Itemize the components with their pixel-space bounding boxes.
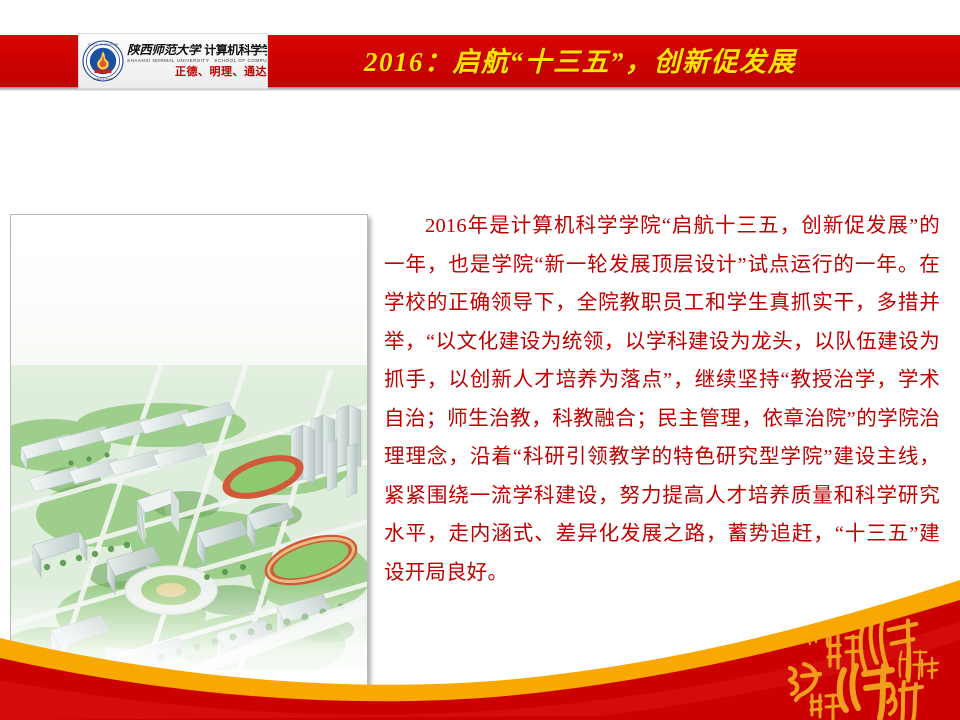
- institution-logo-plate: SCHOOL OF COMPUTER SCIENCE SNNU 陕西师范大学 计…: [78, 33, 268, 89]
- presentation-slide: SCHOOL OF COMPUTER SCIENCE SNNU 陕西师范大学 计…: [0, 0, 960, 720]
- university-motto: 正德、明理、通达: [127, 67, 267, 78]
- slide-title: 2016：启航“十三五”，创新促发展: [300, 40, 860, 84]
- slide-body-paragraph: 2016年是计算机科学学院“启航十三五，创新促发展”的一年，也是学院“新一轮发展…: [384, 207, 940, 592]
- university-name-en: SHAANXI NORMAL UNIVERSITY: [127, 59, 209, 64]
- campus-aerial-rendering: 笔落惊: [11, 215, 367, 705]
- university-seal-icon: SCHOOL OF COMPUTER SCIENCE SNNU: [82, 40, 124, 82]
- svg-text:SCIENCE SNNU: SCIENCE SNNU: [93, 77, 113, 81]
- svg-text:SCHOOL OF COMPUTER: SCHOOL OF COMPUTER: [88, 43, 119, 47]
- school-name-en: SCHOOL OF COMPUTER SCIENCE: [214, 59, 267, 64]
- school-name-cn: 计算机科学学院: [204, 44, 267, 56]
- svg-text:惊: 惊: [77, 663, 92, 678]
- campus-photo-frame: 笔落惊: [10, 214, 368, 706]
- logo-text-block: 陕西师范大学 计算机科学学院 SHAANXI NORMAL UNIVERSITY…: [127, 44, 267, 77]
- university-name-cn: 陕西师范大学: [127, 44, 200, 57]
- svg-text:落: 落: [59, 658, 74, 673]
- svg-text:笔: 笔: [39, 651, 54, 666]
